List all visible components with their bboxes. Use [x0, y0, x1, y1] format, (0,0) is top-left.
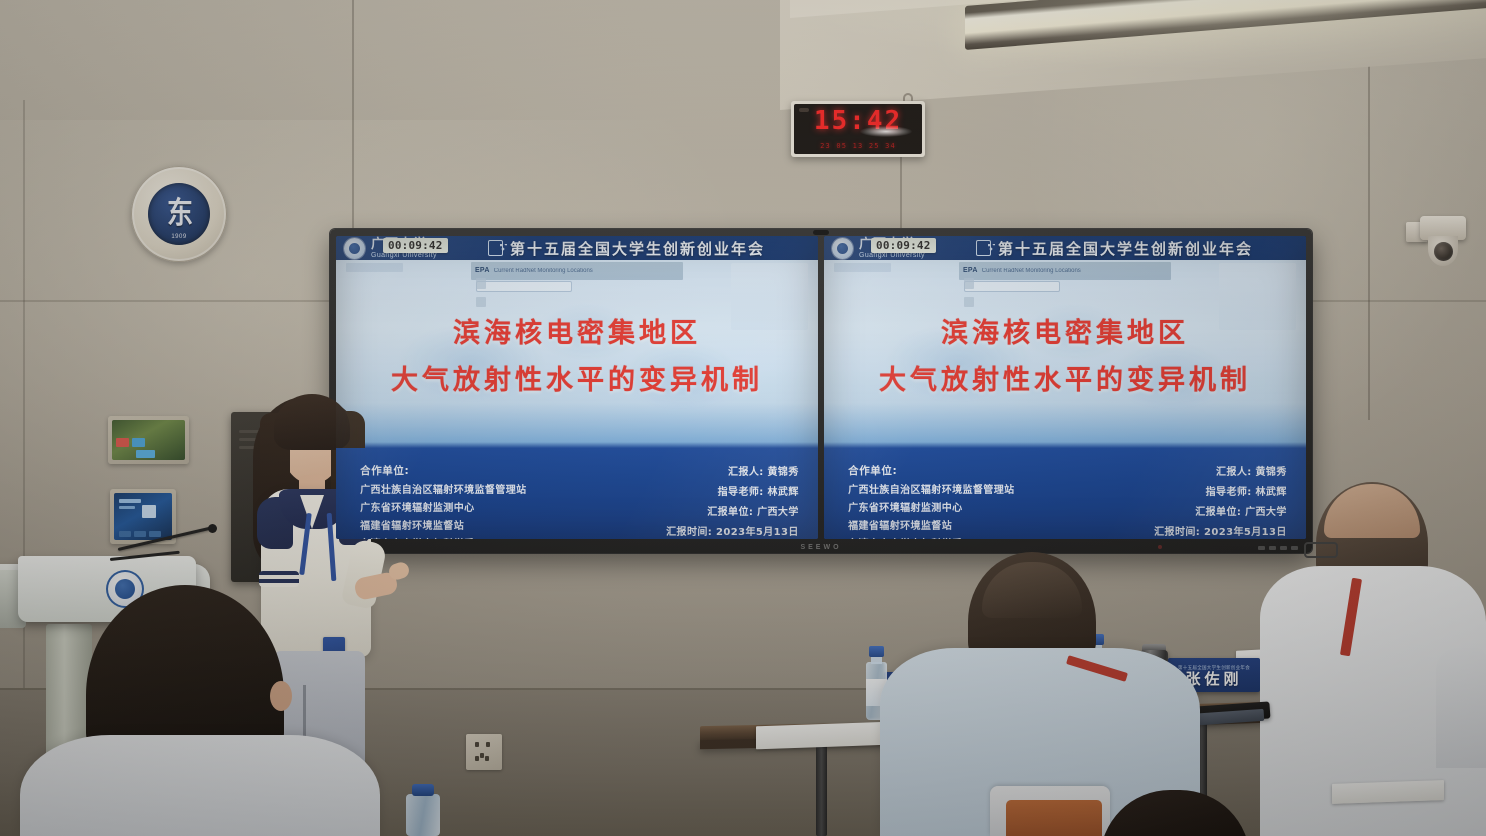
audience-member-foreground-left: [20, 585, 380, 836]
guangxi-university-logo-icon: [344, 238, 365, 259]
display-panel-right[interactable]: EPA Current RadNet Monitoring Locations …: [824, 236, 1306, 539]
partner-item: 台湾中央大学大气科学系: [360, 535, 606, 539]
advisor-name: 指导老师: 林武辉: [718, 483, 799, 498]
presentation-date: 汇报时间: 2023年5月13日: [1154, 523, 1287, 538]
presentation-timer: 00:09:42: [871, 238, 936, 253]
dual-display-wall: EPA Current RadNet Monitoring Locations …: [330, 229, 1312, 553]
water-bottle-foreground: [406, 786, 440, 836]
emblem-year: 1909: [148, 234, 210, 240]
conference-title: 第十五届全国大学生创新创业年会: [998, 238, 1253, 259]
slide-title-line-2: 大气放射性水平的变异机制: [391, 358, 763, 397]
av-control-screen[interactable]: [114, 493, 172, 540]
audience-scalp: [1324, 484, 1420, 538]
emblem-mark: 东: [167, 199, 191, 229]
wall-display-screen: [112, 420, 185, 460]
slide-title-line-1: 滨海核电密集地区: [453, 311, 701, 350]
panel-chip: [116, 438, 129, 447]
conference-logo-icon: [976, 240, 991, 256]
slide-footer: 合作单位: 广西壮族自治区辐射环境监督管理站 广东省环境辐射监测中心 福建省辐射…: [824, 448, 1306, 539]
clock-glare: [860, 126, 912, 137]
ceiling-glow: [800, 0, 1486, 70]
slide-header: 广西大学 Guangxi University 00:09:42 第十五届全国大…: [824, 236, 1306, 260]
presentation-slide-mirror: EPA Current RadNet Monitoring Locations …: [824, 236, 1306, 539]
slide-title-area: 滨海核电密集地区 大气放射性水平的变异机制: [336, 260, 818, 448]
desk-papers: [1332, 780, 1444, 804]
clock-secondary-readout: 23 05 13 25 34: [794, 142, 922, 150]
slide-title-area: 滨海核电密集地区 大气放射性水平的变异机制: [824, 260, 1306, 448]
china-university-of-mining-and-technology-emblem: 东 1909: [131, 166, 227, 262]
partner-item: 福建省辐射环境监督站: [848, 517, 1094, 532]
partner-item: 广西壮族自治区辐射环境监督管理站: [848, 481, 1094, 496]
partner-item: 台湾中央大学大气科学系: [848, 535, 1094, 539]
conference-room-photo: 东 1909: [0, 0, 1486, 836]
display-panel-left[interactable]: EPA Current RadNet Monitoring Locations …: [336, 236, 818, 539]
presenter-name: 汇报人: 黄锦秀: [728, 463, 799, 478]
conference-title-block: 第十五届全国大学生创新创业年会: [443, 238, 810, 259]
wall-power-socket: [466, 734, 502, 770]
guangxi-university-logo-icon: [832, 238, 853, 259]
audience-member-bottom-right: [1060, 790, 1320, 836]
audience-arm: [1436, 648, 1486, 768]
partner-item: 福建省辐射环境监督站: [360, 517, 606, 532]
conference-title: 第十五届全国大学生创新创业年会: [510, 238, 765, 259]
emblem-inner: 东 1909: [148, 183, 210, 245]
display-camera-icon: [813, 230, 829, 235]
presenter-affiliation: 汇报单位: 广西大学: [707, 503, 798, 518]
panel-chip: [119, 506, 135, 509]
wall-digital-clock: 15:42 23 05 13 25 34: [791, 101, 925, 157]
display-brand-label: SEEWO: [330, 544, 1312, 551]
microphone-head-icon: [208, 524, 217, 533]
eyeglasses-icon: [1304, 542, 1338, 558]
presentation-date: 汇报时间: 2023年5月13日: [666, 523, 799, 538]
ptz-camera-icon: [1406, 214, 1468, 276]
desk-papers: [756, 722, 890, 750]
desk-leg: [816, 742, 827, 836]
partners-block: 合作单位: 广西壮族自治区辐射环境监督管理站 广东省环境辐射监测中心 福建省辐射…: [848, 463, 1094, 530]
slide-footer: 合作单位: 广西壮族自治区辐射环境监督管理站 广东省环境辐射监测中心 福建省辐射…: [336, 448, 818, 539]
panel-button[interactable]: [119, 531, 131, 537]
partners-block: 合作单位: 广西壮族自治区辐射环境监督管理站 广东省环境辐射监测中心 福建省辐射…: [360, 463, 606, 530]
audience-ear: [270, 681, 292, 711]
slide-title-line-2: 大气放射性水平的变异机制: [879, 358, 1251, 397]
partner-item: 广东省环境辐射监测中心: [360, 499, 606, 514]
presenter-name: 汇报人: 黄锦秀: [1216, 463, 1287, 478]
audience-head: [1100, 790, 1250, 836]
slide-title-line-1: 滨海核电密集地区: [941, 311, 1189, 350]
partner-item: 广西壮族自治区辐射环境监督管理站: [360, 481, 606, 496]
presenter-meta-block: 汇报人: 黄锦秀 指导老师: 林武辉 汇报单位: 广西大学 汇报时间: 2023…: [616, 463, 798, 530]
conference-title-block: 第十五届全国大学生创新创业年会: [931, 238, 1298, 259]
panel-button[interactable]: [134, 531, 146, 537]
slide-header: 广西大学 Guangxi University 00:09:42 第十五届全国大…: [336, 236, 818, 260]
clock-face: 15:42 23 05 13 25 34: [794, 104, 922, 154]
audience-body: [20, 735, 380, 836]
presentation-timer: 00:09:42: [383, 238, 448, 253]
partner-item: 广东省环境辐射监测中心: [848, 499, 1094, 514]
presentation-slide: EPA Current RadNet Monitoring Locations …: [336, 236, 818, 539]
partners-label: 合作单位:: [848, 463, 1094, 478]
presenter-affiliation: 汇报单位: 广西大学: [1195, 503, 1286, 518]
panel-chip: [119, 499, 141, 503]
advisor-name: 指导老师: 林武辉: [1206, 483, 1287, 498]
presenter-meta-block: 汇报人: 黄锦秀 指导老师: 林武辉 汇报单位: 广西大学 汇报时间: 2023…: [1104, 463, 1286, 530]
panel-chip: [136, 450, 155, 458]
partners-label: 合作单位:: [360, 463, 606, 478]
panel-chip: [142, 505, 156, 518]
wall-display-panel: [108, 416, 189, 464]
panel-button[interactable]: [149, 531, 161, 537]
conference-logo-icon: [488, 240, 503, 256]
panel-chip: [132, 438, 145, 447]
display-ir-receiver-icon: [1158, 545, 1162, 549]
